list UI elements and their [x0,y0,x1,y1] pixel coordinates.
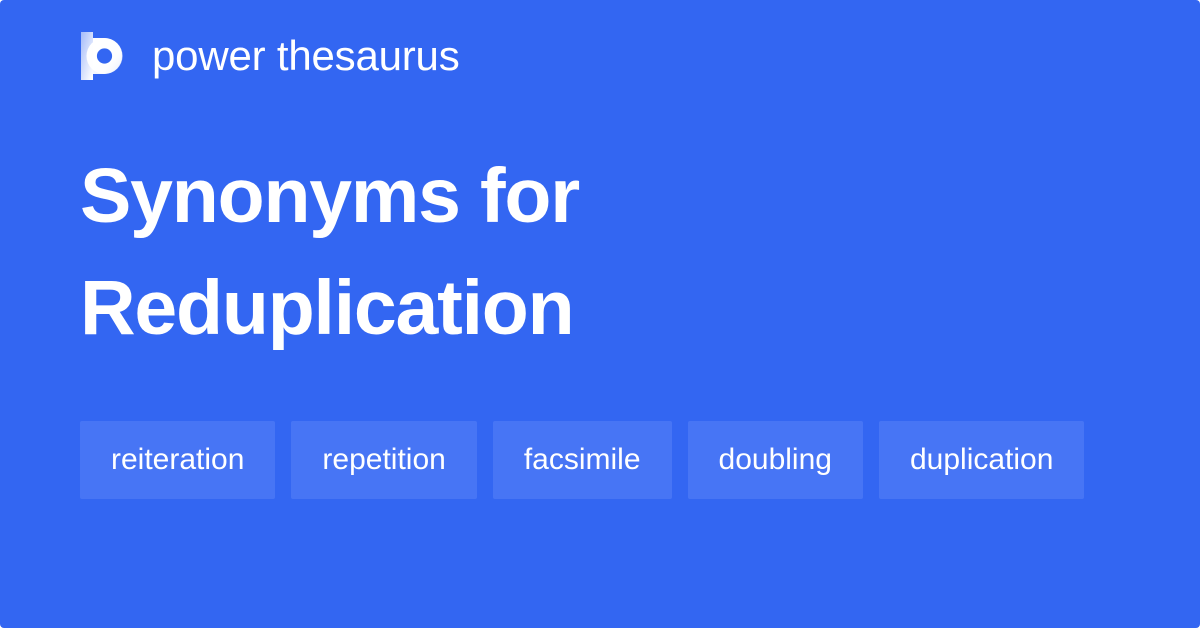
page-title-line-1: Synonyms for [80,140,1120,252]
synonym-tag[interactable]: duplication [879,421,1084,499]
synonym-tag[interactable]: facsimile [493,421,672,499]
page-title: Synonyms for Reduplication [80,140,1120,364]
synonym-tag[interactable]: reiteration [80,421,275,499]
brand-name: power thesaurus [152,31,460,81]
synonym-tag[interactable]: repetition [291,421,476,499]
brand-header[interactable]: power thesaurus [80,28,460,84]
synonym-tag[interactable]: doubling [688,421,863,499]
power-thesaurus-logo-icon [80,31,130,81]
share-card: power thesaurus Synonyms for Reduplicati… [0,0,1200,628]
page-title-line-2: Reduplication [80,252,1120,364]
synonym-tag-list: reiteration repetition facsimile doublin… [80,421,1120,499]
